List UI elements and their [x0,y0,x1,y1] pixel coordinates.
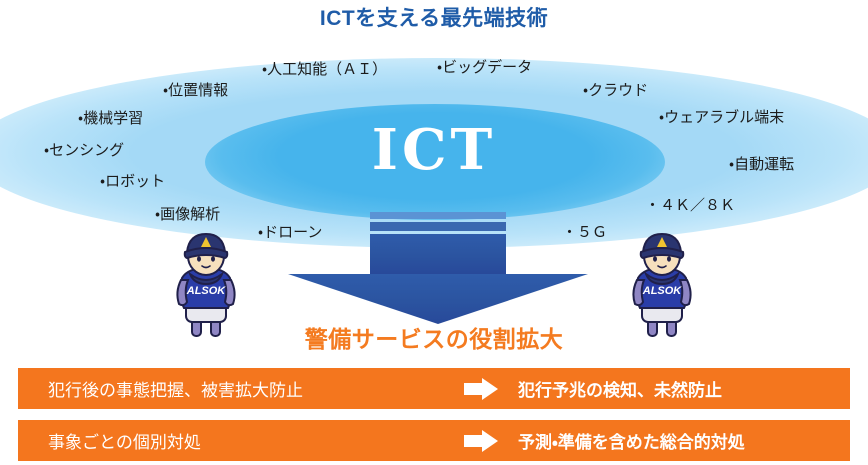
keyword-drone: ・ドローン [258,221,322,242]
keyword-wearable-device: ・ウェアラブル端末 [659,106,784,127]
comparison-before-label: 事象ごとの個別対処 [48,428,201,453]
comparison-after-label: 犯行予兆の検知、未然防止 [518,376,722,401]
keyword-big-data: ・ビッグデータ [437,56,532,77]
keyword-machine-learning: ・機械学習 [78,107,143,128]
keyword-artificial-intelligence: ・人工知能（ＡＩ） [262,58,387,79]
right-arrow-icon [464,430,498,452]
down-arrow-icon [280,212,596,324]
right-arrow-icon [464,378,498,400]
keyword-4k-8k: ・４Ｋ／８Ｋ [645,194,735,215]
page-title: ICTを支える最先端技術 [0,2,868,32]
keyword-autonomous-driving: ・自動運転 [729,153,794,174]
infographic-root: ICTを支える最先端技術 ICT ・人工知能（ＡＩ）・ビッグデータ・位置情 [0,0,868,465]
keyword-5g: ・５Ｇ [562,221,607,242]
svg-text:ALSOK: ALSOK [186,285,227,297]
keyword-sensing: ・センシング [44,139,124,160]
svg-text:ALSOK: ALSOK [642,285,683,297]
comparison-row: 犯行後の事態把握、被害拡大防止 犯行予兆の検知、未然防止 [18,368,850,409]
comparison-row: 事象ごとの個別対処 予測・準備を含めた総合的対処 [18,420,850,461]
keyword-robot: ・ロボット [100,170,165,191]
comparison-before-label: 犯行後の事態把握、被害拡大防止 [48,376,303,401]
sub-headline: 警備サービスの役割拡大 [0,320,868,354]
comparison-after-label: 予測・準備を含めた総合的対処 [518,428,745,453]
keyword-location-information: ・位置情報 [163,79,228,100]
keyword-cloud: ・クラウド [583,79,648,100]
keyword-image-analysis: ・画像解析 [155,203,220,224]
